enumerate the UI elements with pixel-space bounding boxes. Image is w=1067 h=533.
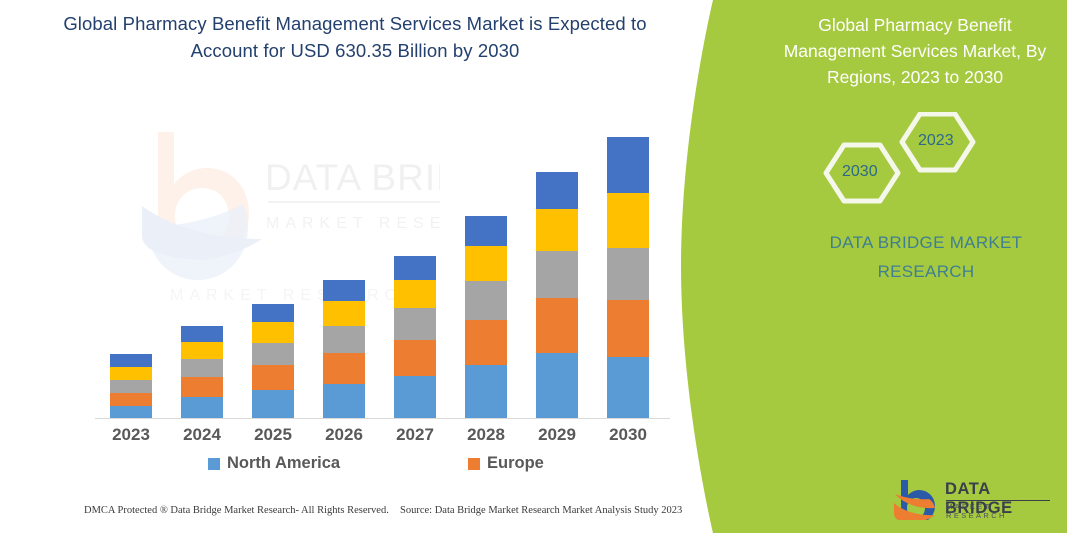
bar-segment <box>394 340 436 377</box>
bar-segment <box>252 304 294 322</box>
bar-segment <box>110 354 152 367</box>
bar-segment <box>536 172 578 209</box>
x-label-2025: 2025 <box>238 425 309 445</box>
bar-segment <box>394 256 436 280</box>
bar-segment <box>323 301 365 325</box>
x-label-2023: 2023 <box>96 425 167 445</box>
bar-segment <box>465 281 507 320</box>
bar-segment <box>607 193 649 248</box>
legend-item-north-america[interactable]: North America <box>208 454 340 473</box>
bar-segment <box>465 365 507 419</box>
x-axis-labels: 20232024202520262027202820292030 <box>95 425 670 453</box>
bar-plot <box>95 120 670 419</box>
x-label-2028: 2028 <box>451 425 522 445</box>
bar-2026 <box>323 280 365 419</box>
bar-segment <box>323 326 365 353</box>
legend-item-europe[interactable]: Europe <box>468 454 544 473</box>
bar-2025 <box>252 304 294 419</box>
bar-segment <box>465 246 507 281</box>
bar-segment <box>110 393 152 406</box>
bar-segment <box>536 251 578 298</box>
bar-segment <box>394 280 436 308</box>
bar-segment <box>110 367 152 380</box>
bar-segment <box>252 390 294 419</box>
legend-label: Europe <box>487 454 544 473</box>
axis-baseline <box>95 418 670 419</box>
bar-segment <box>394 376 436 419</box>
x-label-2027: 2027 <box>380 425 451 445</box>
hexagon-label-2030: 2030 <box>842 163 878 181</box>
logo-divider <box>946 500 1050 501</box>
bar-segment <box>181 359 223 377</box>
bar-2029 <box>536 172 578 419</box>
hexagon-label-2023: 2023 <box>918 132 954 150</box>
chart-title: Global Pharmacy Benefit Management Servi… <box>60 10 650 64</box>
x-label-2030: 2030 <box>593 425 664 445</box>
bar-segment <box>110 380 152 393</box>
bar-segment <box>252 365 294 390</box>
bar-segment <box>252 343 294 365</box>
legend-label: North America <box>227 454 340 473</box>
bar-segment <box>394 308 436 339</box>
bar-segment <box>607 248 649 300</box>
bar-segment <box>323 353 365 384</box>
bar-segment <box>607 300 649 357</box>
panel-title: Global Pharmacy Benefit Management Servi… <box>770 12 1060 90</box>
bar-2027 <box>394 256 436 419</box>
logo-subtitle: MARKET RESEARCH <box>946 502 1053 520</box>
legend-swatch-icon <box>208 458 220 470</box>
bar-segment <box>536 209 578 251</box>
bar-2030 <box>607 137 649 419</box>
x-label-2026: 2026 <box>309 425 380 445</box>
footer-source: Source: Data Bridge Market Research Mark… <box>400 505 682 516</box>
bar-segment <box>607 137 649 193</box>
x-label-2024: 2024 <box>167 425 238 445</box>
footer: DMCA Protected ® Data Bridge Market Rese… <box>0 505 700 529</box>
logo-mark-icon <box>893 478 941 520</box>
x-label-2029: 2029 <box>522 425 593 445</box>
bar-segment <box>181 377 223 397</box>
footer-copyright: DMCA Protected ® Data Bridge Market Rese… <box>84 505 389 516</box>
bar-2023 <box>110 354 152 419</box>
bar-2028 <box>465 216 507 419</box>
bar-segment <box>181 326 223 342</box>
bar-segment <box>181 397 223 419</box>
legend-swatch-icon <box>468 458 480 470</box>
bar-segment <box>181 342 223 359</box>
bar-segment <box>323 280 365 301</box>
company-logo: DATA BRIDGE MARKET RESEARCH <box>893 478 1053 522</box>
panel-brand-line1: DATA BRIDGE MARKET <box>806 228 1046 257</box>
bar-segment <box>536 353 578 419</box>
bar-segment <box>465 216 507 246</box>
chart-panel: Global Pharmacy Benefit Management Servi… <box>0 0 700 533</box>
bar-segment <box>607 357 649 419</box>
bar-segment <box>536 298 578 353</box>
panel-brand-line2: RESEARCH <box>806 257 1046 286</box>
bar-segment <box>252 322 294 342</box>
bar-segment <box>323 384 365 419</box>
chart-legend: North AmericaEurope <box>95 454 670 482</box>
hexagon-group: 2023 2030 <box>816 112 996 207</box>
infographic-canvas: Global Pharmacy Benefit Management Servi… <box>0 0 1067 533</box>
bar-segment <box>465 320 507 365</box>
bar-2024 <box>181 326 223 419</box>
panel-brand-text: DATA BRIDGE MARKET RESEARCH <box>806 228 1046 286</box>
